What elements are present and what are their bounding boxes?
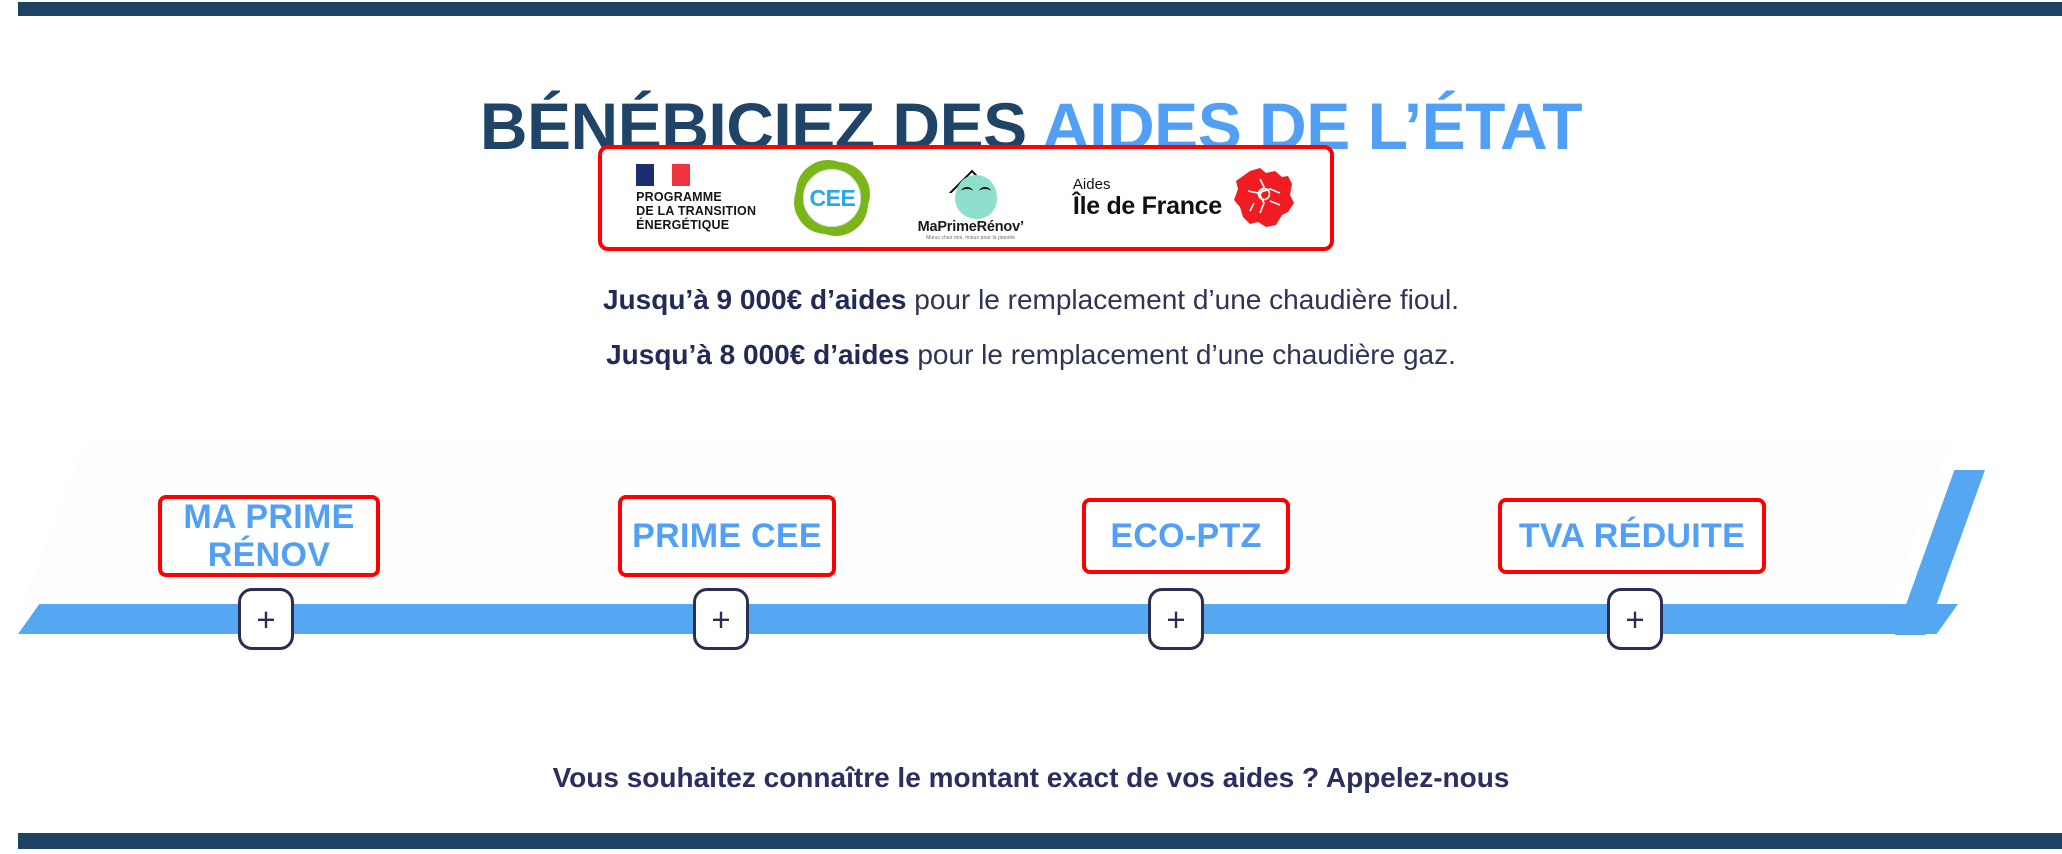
aide-line-gaz: Jusqu’à 8 000€ d’aides pour le remplacem… xyxy=(0,339,2062,371)
top-accent-bar xyxy=(18,2,2062,16)
logo-cee: CEE xyxy=(796,149,868,247)
aid-box-label-ma-prime-renov: MA PRIME RÉNOV xyxy=(162,498,376,574)
cee-badge-icon: CEE xyxy=(796,162,868,234)
logo-idf-line1: Aides xyxy=(1073,177,1222,192)
expand-button-ma-prime-renov[interactable]: + xyxy=(238,588,294,650)
logo-programme-transition-energetique: PROGRAMME DE LA TRANSITION ÉNERGÉTIQUE xyxy=(636,149,756,247)
ribbon-blue-bar xyxy=(18,604,1958,634)
logo-maprimerenov-tagline: Mieux chez moi, mieux pour la planète xyxy=(909,235,1033,241)
logo-maprimerenov: MaPrimeRénov’ Mieux chez moi, mieux pour… xyxy=(909,149,1033,247)
plus-icon: + xyxy=(711,603,730,636)
logo-maprimerenov-label: MaPrimeRénov’ xyxy=(909,219,1033,235)
expand-button-prime-cee[interactable]: + xyxy=(693,588,749,650)
call-to-action-text: Vous souhaitez connaître le montant exac… xyxy=(0,762,2062,794)
aid-box-eco-ptz[interactable]: ECO-PTZ xyxy=(1082,498,1290,574)
expand-button-eco-ptz[interactable]: + xyxy=(1148,588,1204,650)
aid-box-ma-prime-renov[interactable]: MA PRIME RÉNOV xyxy=(158,495,380,577)
partner-logo-band: PROGRAMME DE LA TRANSITION ÉNERGÉTIQUE C… xyxy=(598,145,1334,251)
aide-amount-gaz: Jusqu’à 8 000€ d’aides xyxy=(606,339,910,370)
aid-box-label-eco-ptz: ECO-PTZ xyxy=(1110,517,1261,555)
expand-button-tva-reduite[interactable]: + xyxy=(1607,588,1663,650)
plus-icon: + xyxy=(1625,603,1644,636)
aide-line-fioul: Jusqu’à 9 000€ d’aides pour le remplacem… xyxy=(0,284,2062,316)
logo-aides-ile-de-france: Aides Île de France xyxy=(1073,149,1296,247)
aid-box-prime-cee[interactable]: PRIME CEE xyxy=(618,495,836,577)
aid-box-label-tva-reduite: TVA RÉDUITE xyxy=(1519,517,1745,555)
french-flag-icon xyxy=(636,164,692,186)
plus-icon: + xyxy=(1166,603,1185,636)
smiling-blob-icon xyxy=(955,175,997,219)
aid-box-tva-reduite[interactable]: TVA RÉDUITE xyxy=(1498,498,1766,574)
ile-de-france-map-icon xyxy=(1230,167,1296,229)
aide-desc-gaz: pour le remplacement d’une chaudière gaz… xyxy=(910,339,1456,370)
blob-eye-left-icon xyxy=(961,187,973,196)
logo-pte-line2: DE LA TRANSITION xyxy=(636,204,756,218)
logo-pte-line1: PROGRAMME xyxy=(636,190,756,204)
logo-idf-line2: Île de France xyxy=(1073,194,1222,219)
logo-pte-line3: ÉNERGÉTIQUE xyxy=(636,218,756,232)
blob-eye-right-icon xyxy=(979,187,991,196)
aide-desc-fioul: pour le remplacement d’une chaudière fio… xyxy=(906,284,1459,315)
bottom-accent-bar xyxy=(18,833,2062,849)
aid-box-label-prime-cee: PRIME CEE xyxy=(632,517,822,555)
logo-cee-label: CEE xyxy=(810,185,856,212)
aide-amount-fioul: Jusqu’à 9 000€ d’aides xyxy=(603,284,907,315)
plus-icon: + xyxy=(256,603,275,636)
